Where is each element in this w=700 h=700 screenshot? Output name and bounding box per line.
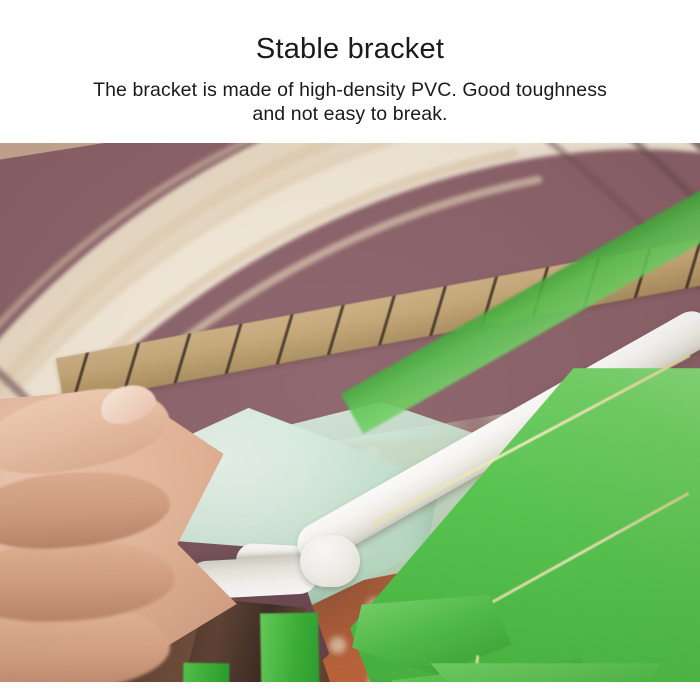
white-pvc-corner-joint <box>300 535 360 587</box>
green-fabric-over-thumb <box>430 663 660 682</box>
subtitle-line-1: The bracket is made of high-density PVC.… <box>0 78 700 102</box>
green-fabric-strip-1 <box>181 663 230 682</box>
product-photo <box>0 143 700 682</box>
page-title: Stable bracket <box>0 32 700 66</box>
header-text-block: Stable bracket The bracket is made of hi… <box>0 0 700 143</box>
product-feature-card: Stable bracket The bracket is made of hi… <box>0 0 700 700</box>
page-subtitle: The bracket is made of high-density PVC.… <box>0 78 700 126</box>
footer-spacer <box>0 682 700 700</box>
subtitle-line-2: and not easy to break. <box>0 102 700 126</box>
green-fabric-strip-2 <box>260 613 322 682</box>
